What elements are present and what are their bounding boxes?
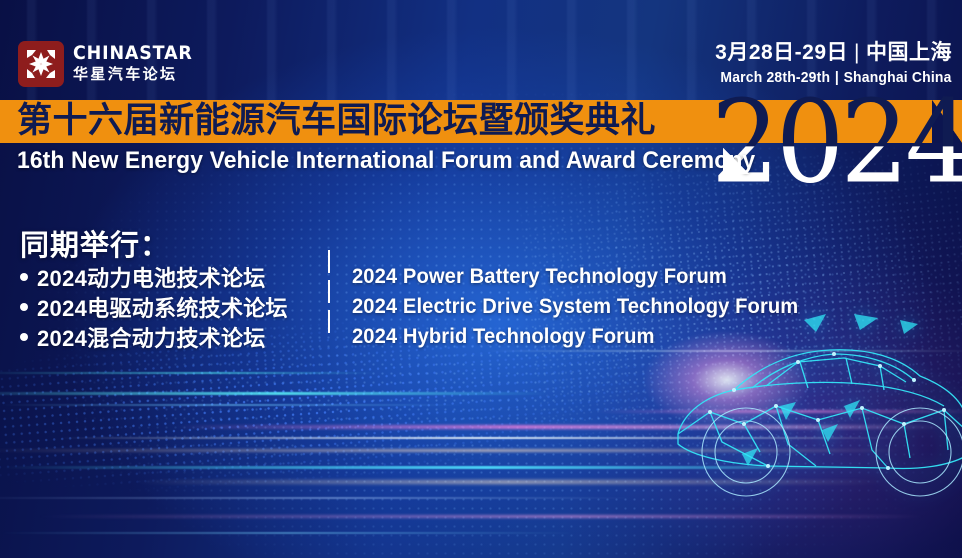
concurrent-events-heading: 同期举行：: [20, 222, 170, 264]
forum-name-chinese: 2024电驱动系统技术论坛: [37, 296, 288, 321]
page-title-chinese: 第十六届新能源汽车国际论坛暨颁奖典礼: [17, 99, 656, 143]
location-chinese: 中国上海: [866, 41, 952, 64]
logo-chinese-name: 华星汽车论坛: [73, 66, 203, 83]
forum-list: 2024动力电池技术论坛 2024 Power Battery Technolo…: [20, 262, 817, 352]
title-english-accent-triangle: [723, 148, 749, 174]
logo-english-name: CHINASTAR: [73, 44, 193, 64]
date-chinese: 3月28日-29日: [715, 41, 848, 64]
event-poster: CHINASTAR 华星汽车论坛 3月28日-29日|中国上海 March 28…: [0, 0, 962, 558]
page-title-english: 16th New Energy Vehicle International Fo…: [17, 146, 755, 176]
bullet-dot-icon: [20, 303, 28, 311]
forum-name-english: 2024 Power Battery Technology Forum: [352, 265, 727, 289]
star-emblem-icon: [18, 41, 64, 87]
bullet-dot-icon: [20, 273, 28, 281]
forum-name-chinese: 2024混合动力技术论坛: [37, 326, 266, 351]
forum-name-english: 2024 Electric Drive System Technology Fo…: [352, 295, 798, 319]
bullet-dot-icon: [20, 333, 28, 341]
forum-name-chinese: 2024动力电池技术论坛: [37, 266, 266, 291]
date-separator-cn: |: [848, 41, 866, 64]
forum-name-english: 2024 Hybrid Technology Forum: [352, 325, 655, 349]
brand-logo[interactable]: CHINASTAR 华星汽车论坛: [18, 41, 203, 87]
list-item: 2024动力电池技术论坛 2024 Power Battery Technolo…: [20, 262, 817, 292]
list-item: 2024混合动力技术论坛 2024 Hybrid Technology Foru…: [20, 322, 817, 352]
list-item: 2024电驱动系统技术论坛 2024 Electric Drive System…: [20, 292, 817, 322]
